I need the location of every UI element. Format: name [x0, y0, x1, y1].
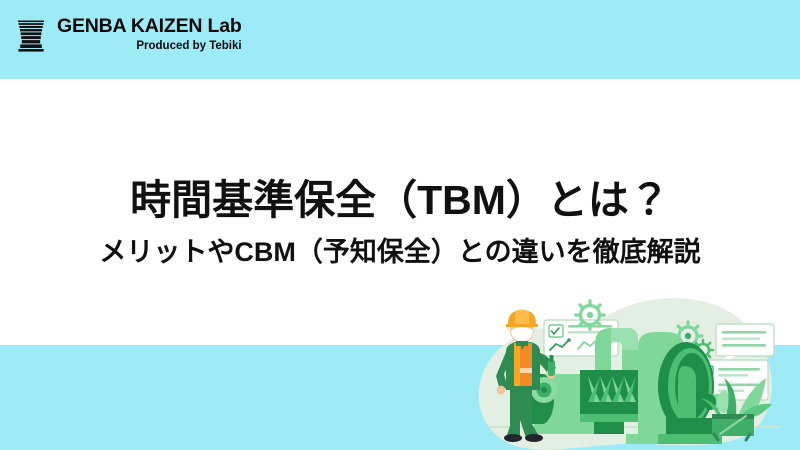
logo-title: GENBA KAIZEN Lab: [57, 17, 242, 37]
logo-subtitle: Produced by Tebiki: [136, 41, 241, 53]
factory-maintenance-illustration: [470, 298, 800, 450]
headline-subtitle: メリットやCBM（予知保全）との違いを徹底解説: [0, 236, 800, 268]
thumbnail-canvas: GENBA KAIZEN Lab Produced by Tebiki 時間基準…: [0, 0, 800, 450]
gear-icon-top: [576, 301, 605, 330]
brand-logo[interactable]: GENBA KAIZEN Lab Produced by Tebiki: [14, 17, 242, 53]
logo-text-group: GENBA KAIZEN Lab Produced by Tebiki: [57, 17, 242, 52]
illustration-svg: [470, 298, 800, 450]
headline-main-title: 時間基準保全（TBM）とは？: [0, 176, 800, 224]
headline-block: 時間基準保全（TBM）とは？ メリットやCBM（予知保全）との違いを徹底解説: [0, 176, 800, 269]
stacked-pyramid-logo-icon: [14, 19, 48, 53]
